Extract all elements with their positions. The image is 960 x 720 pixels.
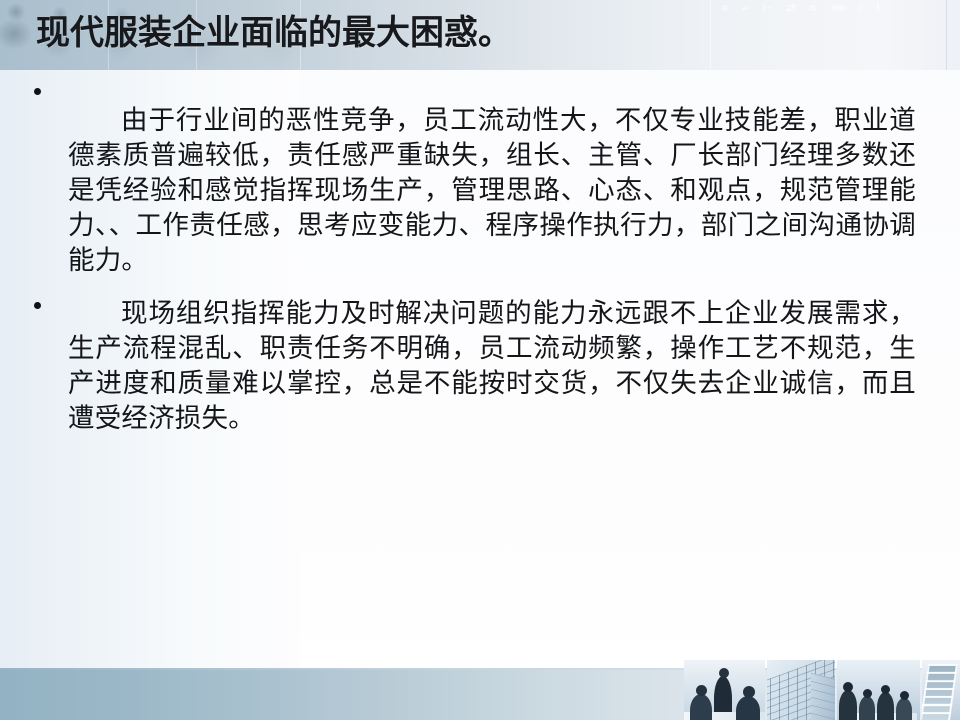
person-figure: [690, 694, 712, 720]
ladder-photo: [922, 660, 960, 720]
person-figure: [736, 696, 760, 720]
person-figure: [859, 696, 875, 720]
person-figure: [714, 676, 732, 712]
tower-side-shape: [811, 673, 835, 720]
bullet-list: 由于行业间的恶性竞争，员工流动性大，不仅专业技能差，职业道德素质普遍较低，责任感…: [0, 70, 960, 436]
header-seam-4: [710, 0, 711, 70]
slide-body: 由于行业间的恶性竞争，员工流动性大，不仅专业技能差，职业道德素质普遍较低，责任感…: [0, 70, 960, 442]
person-head: [719, 668, 729, 678]
bullet-text: 现场组织指挥能力及时解决问题的能力永远跟不上企业发展需求，生产流程混乱、职责任务…: [68, 296, 916, 436]
ladder-shape: [922, 664, 958, 720]
bullet-item: 由于行业间的恶性竞争，员工流动性大，不仅专业技能差，职业道德素质普遍较低，责任感…: [0, 70, 960, 278]
person-head: [881, 685, 890, 694]
slide-title: 现代服装企业面临的最大困惑。: [36, 8, 512, 60]
header-watermark-text: ≡ ⌐ ⊢ ⇄ ⌗ ⋙ ⁄ ⌇: [721, 1, 886, 16]
bullet-item: 现场组织指挥能力及时解决问题的能力永远跟不上企业发展需求，生产流程混乱、职责任务…: [0, 284, 960, 436]
bullet-dot-icon: [34, 88, 41, 95]
bullet-text: 由于行业间的恶性竞争，员工流动性大，不仅专业技能差，职业道德素质普遍较低，责任感…: [68, 103, 916, 278]
person-head: [696, 685, 707, 696]
person-head: [863, 689, 872, 698]
slide-header-banner: ≡ ⌐ ⊢ ⇄ ⌗ ⋙ ⁄ ⌇ 现代服装企业面临的最大困惑。: [0, 0, 960, 70]
footer-photo-strip: [684, 660, 960, 720]
person-figure: [839, 690, 857, 720]
header-seam-5: [946, 0, 947, 70]
business-meeting-photo: [684, 660, 765, 720]
person-figure: [877, 692, 894, 720]
bullet-dot-icon: [34, 302, 41, 309]
person-head: [743, 686, 755, 698]
person-figure: [896, 698, 912, 720]
person-head: [843, 682, 853, 692]
presentation-slide: ≡ ⌐ ⊢ ⇄ ⌗ ⋙ ⁄ ⌇ 现代服装企业面临的最大困惑。 由于行业间的恶性竞…: [0, 0, 960, 720]
office-tower-photo: [767, 660, 835, 720]
conference-group-photo: [837, 660, 920, 720]
person-head: [900, 691, 909, 700]
